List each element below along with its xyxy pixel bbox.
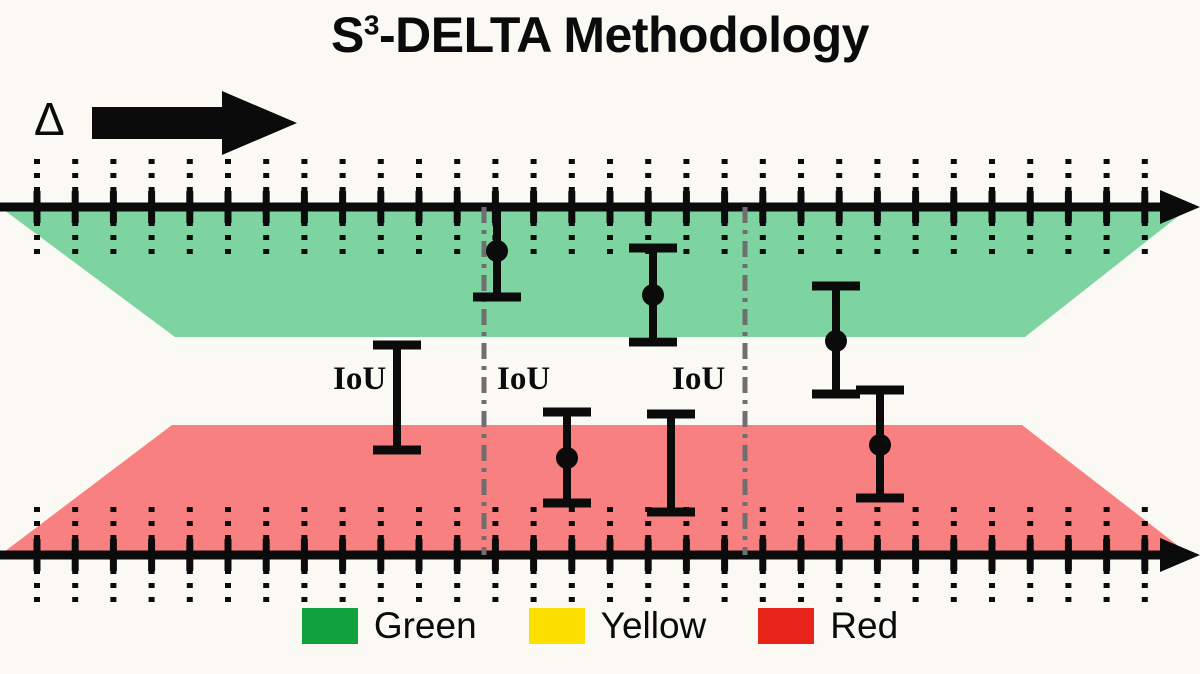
legend: Green Yellow Red [0,607,1200,644]
band-red [0,425,1190,555]
legend-item-red: Red [758,607,898,644]
legend-swatch-green [302,608,358,644]
legend-label-yellow: Yellow [601,607,707,644]
delta-progress-arrow [92,91,297,155]
figure-canvas: S3-DELTA Methodology Δ [0,0,1200,674]
methodology-diagram [0,0,1200,674]
legend-label-red: Red [830,607,898,644]
band-green [0,207,1190,337]
iou-label: IoU [333,363,386,396]
iou-label: IoU [672,363,725,396]
iou-label: IoU [497,363,550,396]
legend-swatch-red [758,608,814,644]
legend-swatch-yellow [529,608,585,644]
legend-item-yellow: Yellow [529,607,707,644]
legend-label-green: Green [374,607,477,644]
legend-item-green: Green [302,607,477,644]
